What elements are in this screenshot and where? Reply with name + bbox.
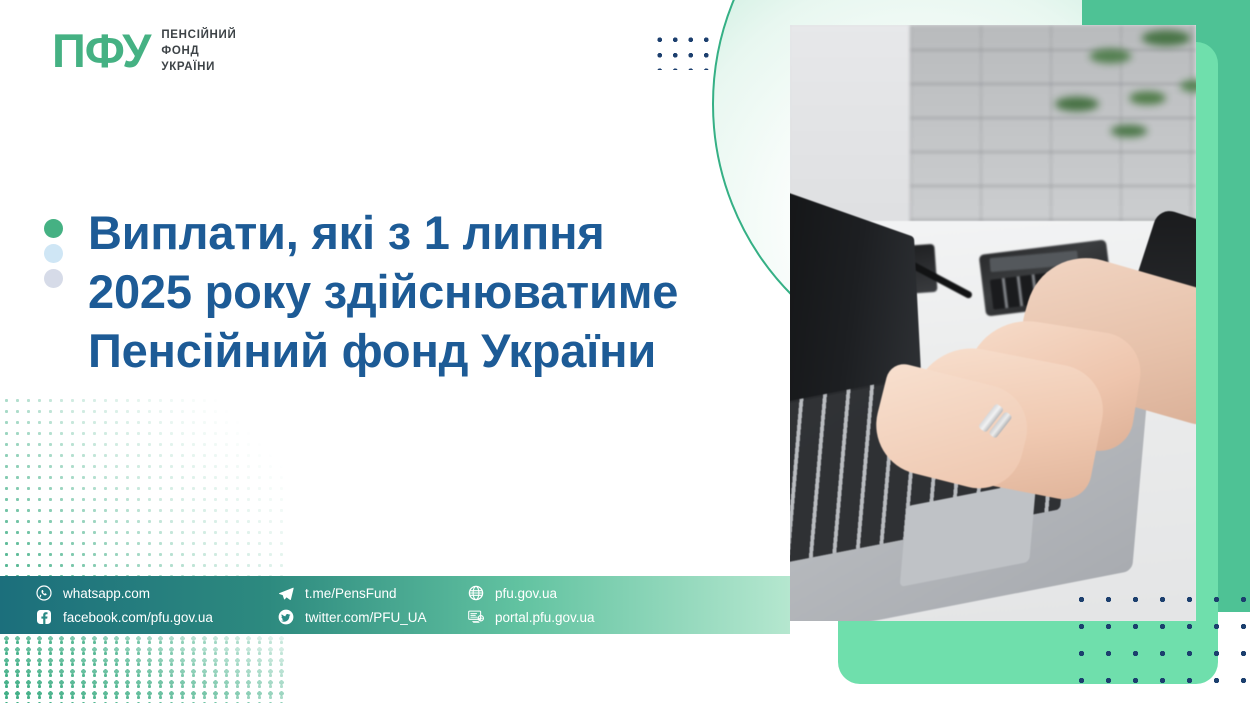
footer-link-telegram[interactable]: t.me/PensFund [278, 585, 468, 602]
pfu-logo[interactable]: ПФУ ПЕНСІЙНИЙ ФОНД УКРАЇНИ [52, 26, 237, 75]
footer-link-twitter[interactable]: twitter.com/PFU_UA [278, 609, 468, 626]
whatsapp-icon [36, 585, 52, 601]
bullet-light-blue [44, 244, 63, 263]
page-title: Виплати, які з 1 липня 2025 року здійсню… [88, 203, 748, 380]
footer-column-web: pfu.gov.ua portal.pfu.gov.ua [468, 585, 668, 626]
hero-photo [790, 25, 1196, 621]
footer-label-telegram: t.me/PensFund [305, 585, 397, 602]
logo-line-1: ПЕНСІЙНИЙ [161, 28, 236, 43]
footer-column-messengers: t.me/PensFund twitter.com/PFU_UA [278, 585, 468, 626]
footer-label-twitter: twitter.com/PFU_UA [305, 609, 427, 626]
photo-plant [1036, 25, 1196, 161]
headline-bullet-dots [44, 219, 63, 288]
bullet-lavender [44, 269, 63, 288]
globe-icon [468, 585, 484, 601]
poster-canvas: ПФУ ПЕНСІЙНИЙ ФОНД УКРАЇНИ Виплати, які … [0, 0, 1250, 703]
portal-monitor-icon [468, 609, 484, 625]
bullet-green [44, 219, 63, 238]
facebook-icon [36, 609, 52, 625]
footer-link-website[interactable]: pfu.gov.ua [468, 585, 668, 602]
logo-mark-pfu: ПФУ [52, 27, 150, 74]
photo-scene [790, 25, 1196, 621]
footer-contacts-bar: whatsapp.com facebook.com/pfu.gov.ua t.m… [0, 576, 790, 634]
twitter-icon [278, 609, 294, 625]
dot-grid-top [652, 32, 714, 70]
logo-line-3: УКРАЇНИ [161, 60, 236, 75]
logo-wordmark: ПЕНСІЙНИЙ ФОНД УКРАЇНИ [161, 26, 236, 75]
telegram-icon [278, 585, 294, 601]
dot-grid-bottom-right [1068, 586, 1250, 696]
footer-label-portal: portal.pfu.gov.ua [495, 609, 595, 626]
footer-column-social: whatsapp.com facebook.com/pfu.gov.ua [36, 585, 266, 626]
footer-link-facebook[interactable]: facebook.com/pfu.gov.ua [36, 609, 266, 626]
footer-label-whatsapp: whatsapp.com [63, 585, 150, 602]
footer-label-website: pfu.gov.ua [495, 585, 557, 602]
footer-link-whatsapp[interactable]: whatsapp.com [36, 585, 266, 602]
logo-line-2: ФОНД [161, 44, 236, 59]
footer-link-portal[interactable]: portal.pfu.gov.ua [468, 609, 668, 626]
footer-label-facebook: facebook.com/pfu.gov.ua [63, 609, 213, 626]
